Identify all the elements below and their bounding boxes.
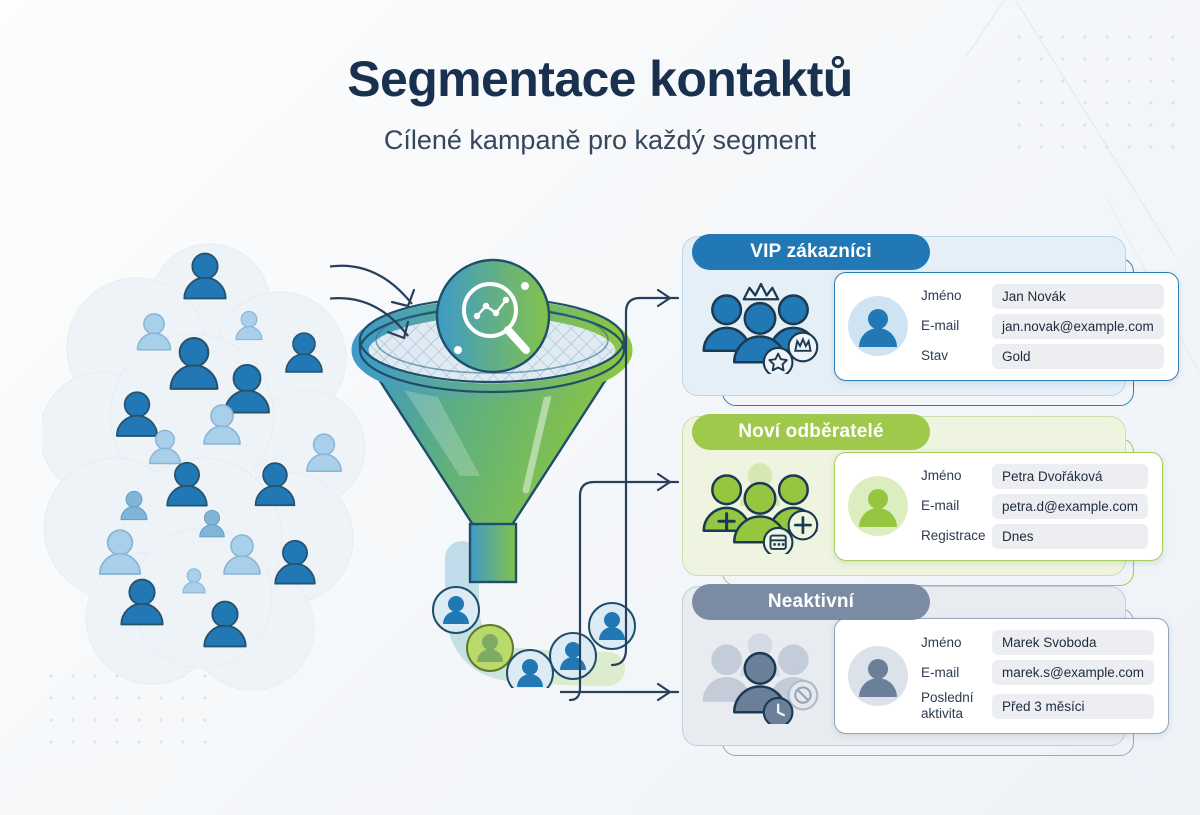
field-row: E-mail marek.s@example.com	[921, 660, 1154, 685]
segment-title-new: Noví odběratelé	[692, 414, 930, 450]
segment-card-inactive[interactable]: Neaktivní	[682, 586, 1126, 746]
star-badge-icon	[764, 348, 793, 374]
field-value[interactable]: Petra Dvořáková	[992, 464, 1148, 489]
people-group-crown-icon	[690, 274, 830, 378]
user-avatar-icon	[847, 295, 909, 357]
user-avatar-icon	[847, 475, 909, 537]
field-row: Jméno Jan Novák	[921, 284, 1164, 309]
contact-detail-card[interactable]: Jméno Jan Novák E-mail jan.novak@example…	[834, 272, 1179, 381]
people-group-inactive-icon	[690, 624, 830, 728]
segment-card-new[interactable]: Noví odběratelé	[682, 416, 1126, 576]
segment-card-vip[interactable]: VIP zákazníci	[682, 236, 1126, 396]
crowd-cloud	[42, 238, 372, 690]
user-avatar-icon	[847, 645, 909, 707]
contact-fields: Jméno Marek Svoboda E-mail marek.s@examp…	[921, 630, 1154, 722]
calendar-badge-icon	[764, 528, 793, 554]
field-label: Registrace	[921, 528, 983, 544]
contact-detail-card[interactable]: Jméno Petra Dvořáková E-mail petra.d@exa…	[834, 452, 1163, 561]
field-value[interactable]: Gold	[992, 344, 1164, 369]
field-label: Jméno	[921, 635, 983, 651]
header: Segmentace kontaktů Cílené kampaně pro k…	[0, 52, 1200, 156]
field-row: E-mail jan.novak@example.com	[921, 314, 1164, 339]
contact-fields: Jméno Petra Dvořáková E-mail petra.d@exa…	[921, 464, 1148, 549]
field-row: Jméno Marek Svoboda	[921, 630, 1154, 655]
field-label: Stav	[921, 348, 983, 364]
field-row: Stav Gold	[921, 344, 1164, 369]
field-value[interactable]: jan.novak@example.com	[992, 314, 1164, 339]
segment-content: Jméno Marek Svoboda E-mail marek.s@examp…	[690, 614, 1120, 738]
field-row: Registrace Dnes	[921, 524, 1148, 549]
people-group-plus-icon	[690, 454, 830, 558]
infographic-canvas: Segmentace kontaktů Cílené kampaně pro k…	[0, 0, 1200, 815]
field-label: Jméno	[921, 468, 983, 484]
field-row: Jméno Petra Dvořáková	[921, 464, 1148, 489]
field-label: Jméno	[921, 288, 983, 304]
field-label: E-mail	[921, 318, 983, 334]
field-row: E-mail petra.d@example.com	[921, 494, 1148, 519]
segment-content: Jméno Jan Novák E-mail jan.novak@example…	[690, 264, 1120, 388]
crown-icon	[744, 284, 778, 299]
field-value[interactable]: Jan Novák	[992, 284, 1164, 309]
field-value[interactable]: Marek Svoboda	[992, 630, 1154, 655]
crown-badge-icon	[789, 333, 818, 362]
field-value[interactable]: Před 3 měsíci	[992, 694, 1154, 719]
contact-detail-card[interactable]: Jméno Marek Svoboda E-mail marek.s@examp…	[834, 618, 1169, 734]
field-label: Poslední aktivita	[921, 690, 983, 722]
plus-badge-icon	[789, 511, 818, 540]
no-entry-badge-icon	[789, 681, 818, 710]
field-label: E-mail	[921, 665, 983, 681]
segment-title-vip: VIP zákazníci	[692, 234, 930, 270]
diagonal-line-2	[966, 0, 1146, 57]
field-value[interactable]: Dnes	[992, 524, 1148, 549]
field-value[interactable]: marek.s@example.com	[992, 660, 1154, 685]
page-subtitle: Cílené kampaně pro každý segment	[0, 125, 1200, 156]
magnifier-analytics-icon	[437, 260, 549, 372]
segment-content: Jméno Petra Dvořáková E-mail petra.d@exa…	[690, 444, 1120, 568]
contact-fields: Jméno Jan Novák E-mail jan.novak@example…	[921, 284, 1164, 369]
segment-title-inactive: Neaktivní	[692, 584, 930, 620]
field-label: E-mail	[921, 498, 983, 514]
clock-badge-icon	[764, 698, 793, 724]
field-row: Poslední aktivita Před 3 měsíci	[921, 690, 1154, 722]
page-title: Segmentace kontaktů	[0, 52, 1200, 107]
field-value[interactable]: petra.d@example.com	[992, 494, 1148, 519]
